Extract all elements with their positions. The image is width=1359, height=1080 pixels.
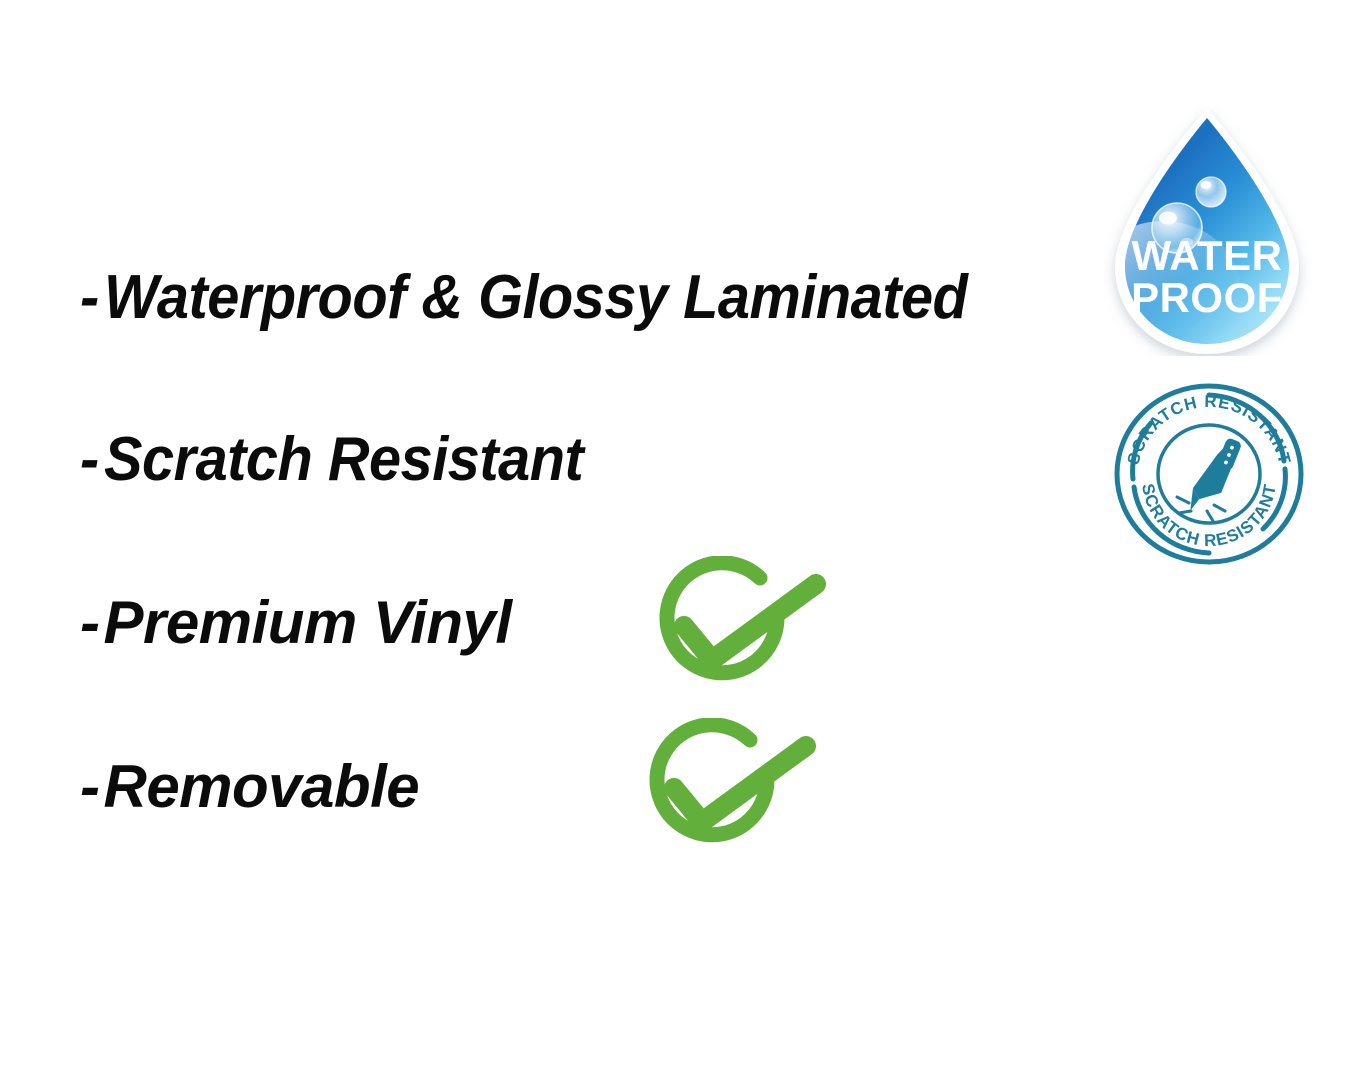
feature-item-removable: - Removable [80,752,419,821]
bullet-dash: - [80,262,99,333]
feature-label: Premium Vinyl [103,588,511,657]
bullet-dash: - [80,588,99,657]
feature-label: Scratch Resistant [104,424,583,495]
feature-list: - Waterproof & Glossy Laminated - Scratc… [0,0,1100,1080]
product-features-graphic: - Waterproof & Glossy Laminated - Scratc… [0,0,1359,1080]
scratch-resistant-badge: SCRATCH RESISTANT SCRATCH RESISTANT [1113,383,1305,565]
checkmark-removable [634,718,824,868]
feature-label: Removable [103,752,419,821]
bubble-small-icon [1196,177,1226,207]
bullet-dash: - [80,424,99,495]
feature-item-waterproof: - Waterproof & Glossy Laminated [80,262,1032,333]
feature-item-scratch-resistant: - Scratch Resistant [80,424,619,495]
waterproof-line-2: PROOF [1131,274,1283,321]
feature-item-premium-vinyl: - Premium Vinyl [80,588,512,657]
waterproof-badge: WATER PROOF [1103,106,1315,356]
bullet-dash: - [80,752,99,821]
check-circle-icon [667,563,816,673]
feature-label: Waterproof & Glossy Laminated [104,262,967,333]
check-circle-icon [657,725,806,835]
scratch-text-top: SCRATCH RESISTANT [1124,392,1295,467]
checkmark-premium-vinyl [644,556,834,706]
waterproof-line-1: WATER [1131,232,1282,279]
